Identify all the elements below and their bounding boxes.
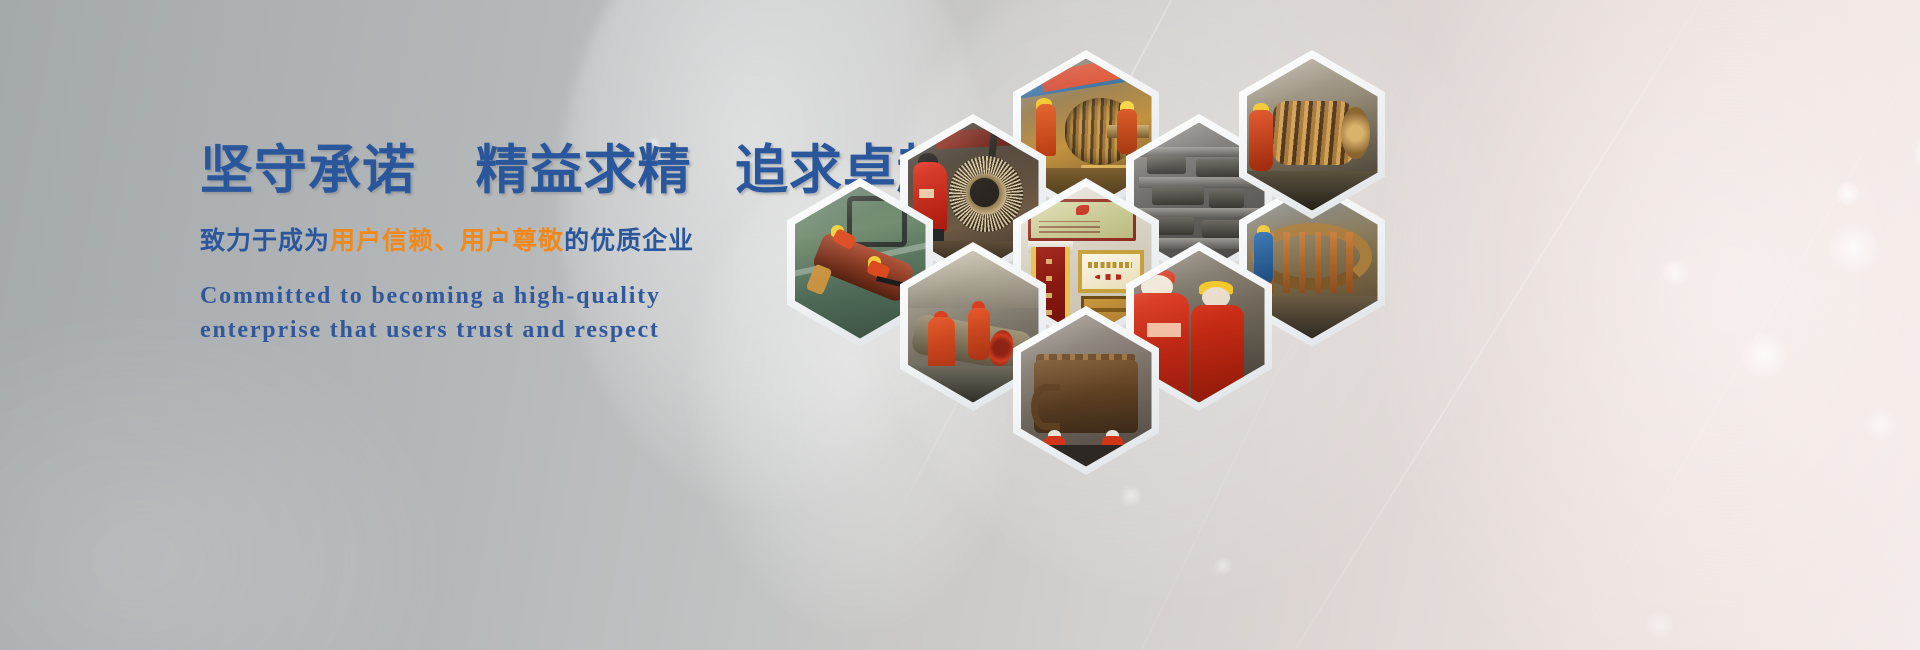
light-streak	[1535, 0, 1920, 650]
lens-flare-dot	[1866, 408, 1896, 442]
subtitle-highlight-trust: 用户信赖	[330, 227, 434, 255]
hex-photo-inner	[1021, 315, 1152, 467]
subtitle-highlight-respect: 用户尊敬	[460, 227, 564, 255]
hexagon-photo-collage	[770, 50, 1410, 520]
photo-cast-engine-block	[1021, 315, 1152, 467]
headline-part-2: 精益求精	[475, 141, 691, 200]
lens-flare-dot	[1830, 220, 1878, 276]
lens-flare-dot	[1646, 610, 1674, 640]
lens-flare-dot	[1742, 330, 1786, 380]
subtitle-tail: 的优质企业	[564, 227, 694, 255]
subtitle-lead: 致力于成为	[200, 227, 330, 255]
subtitle-separator: 、	[434, 227, 460, 255]
lens-flare-dot	[1836, 180, 1860, 208]
company-slogan-banner: 坚守承诺 精益求精 追求卓越 致力于成为用户信赖、用户尊敬的优质企业 Commi…	[0, 0, 1920, 650]
headline-part-1: 坚守承诺	[200, 141, 416, 200]
lens-flare-dot	[1914, 133, 1920, 177]
hex-photo-inner	[1247, 59, 1378, 211]
lens-flare-dot	[1662, 258, 1688, 288]
lens-flare-dot	[1214, 556, 1232, 576]
photo-motor-rotor	[1247, 59, 1378, 211]
background-light-blob	[0, 300, 460, 650]
background-warm-glow	[1380, 0, 1920, 650]
